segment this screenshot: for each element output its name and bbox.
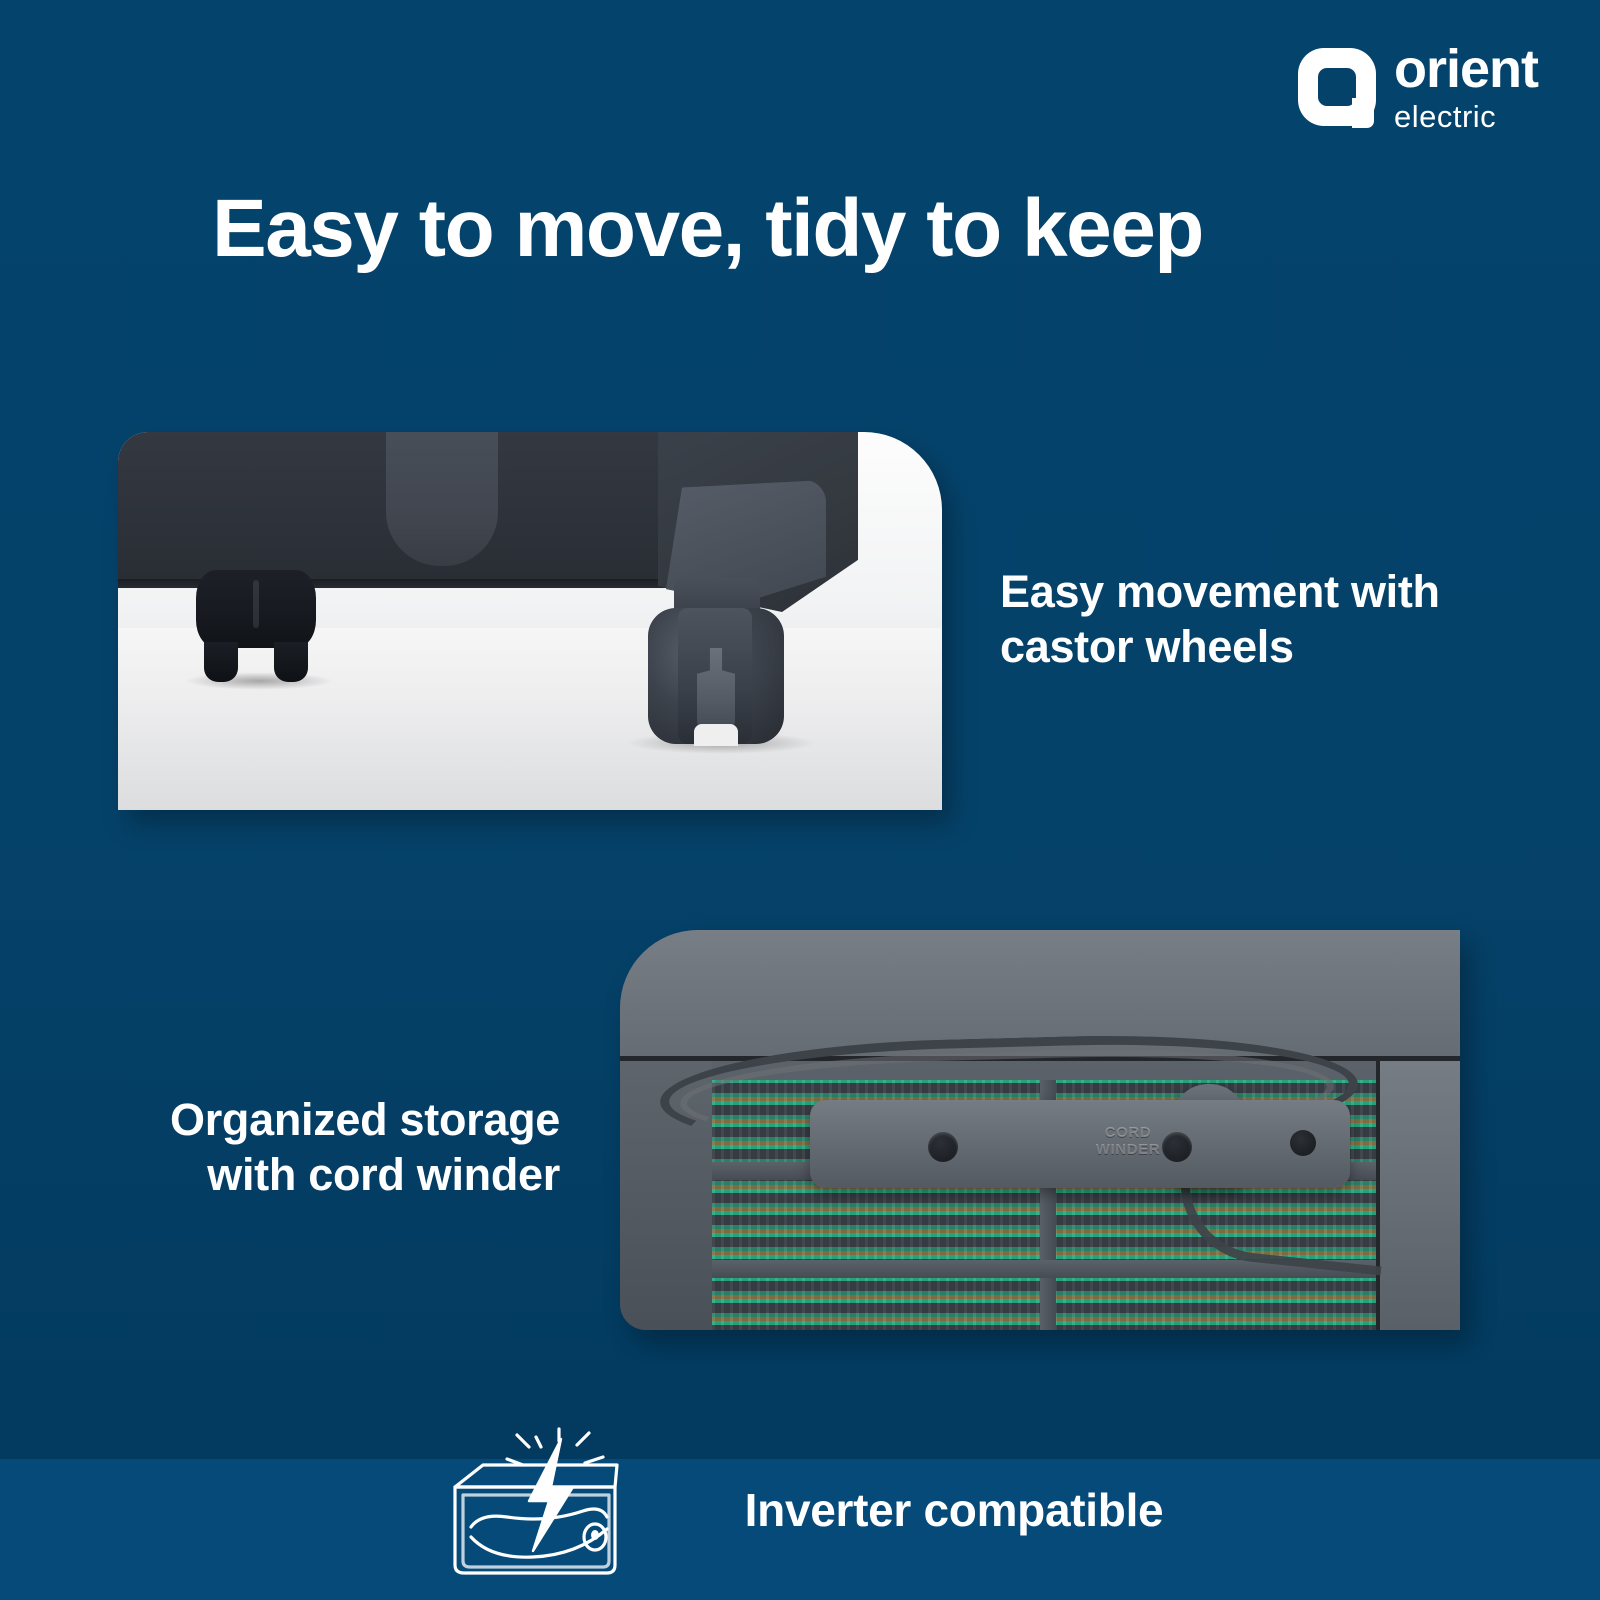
inverter-compatible-badge: Inverter compatible — [0, 1420, 1600, 1600]
castor-caption-line-1: Easy movement with — [1000, 565, 1540, 620]
castor-wheels-photo — [118, 432, 942, 810]
bracket-hole — [928, 1132, 958, 1162]
right-castor-wheel — [648, 608, 784, 744]
cordwinder-caption-line-2: with cord winder — [40, 1148, 560, 1203]
brand-logo: orient electric — [1298, 42, 1538, 132]
castor-wheels-caption: Easy movement with castor wheels — [1000, 565, 1540, 675]
castor-caption-line-2: castor wheels — [1000, 620, 1540, 675]
floor-surface — [118, 628, 942, 810]
left-castor-wheel — [196, 570, 316, 648]
orient-o-mark-icon — [1298, 48, 1376, 126]
brand-logo-text: orient electric — [1394, 42, 1538, 132]
cooler-body-rib — [386, 432, 498, 566]
emboss-line-1: CORD — [1068, 1124, 1188, 1141]
cord-winder-photo: CORD WINDER — [620, 930, 1460, 1330]
cordwinder-caption-line-1: Organized storage — [40, 1093, 560, 1148]
brand-tagline: electric — [1394, 101, 1538, 132]
cord-winder-bracket: CORD WINDER — [810, 1100, 1350, 1188]
brand-name: orient — [1394, 42, 1538, 96]
bracket-knob — [1290, 1130, 1316, 1156]
infographic-stage: orient electric Easy to move, tidy to ke… — [0, 0, 1600, 1600]
page-title: Easy to move, tidy to keep — [212, 186, 1392, 272]
cord-winder-caption: Organized storage with cord winder — [40, 1093, 560, 1203]
inverter-battery-bolt-icon — [437, 1425, 647, 1595]
cord-winder-embossed-label: CORD WINDER — [1068, 1124, 1188, 1159]
inverter-compatible-label: Inverter compatible — [745, 1483, 1164, 1537]
emboss-line-2: WINDER — [1068, 1141, 1188, 1158]
